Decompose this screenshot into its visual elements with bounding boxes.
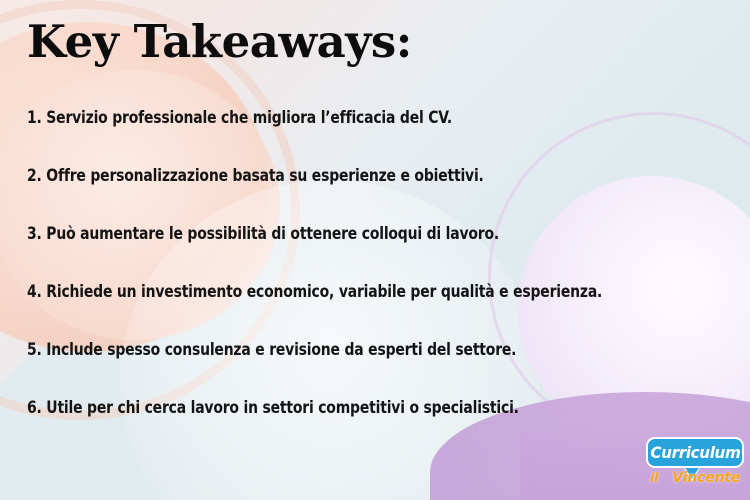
list-item: 5. Include spesso consulenza e revisione… — [27, 342, 688, 400]
logo-subtitle-left: il — [650, 470, 658, 485]
takeaways-slide: Key Takeaways: 1. Servizio professionale… — [0, 0, 750, 500]
list-item: 3. Può aumentare le possibilità di otten… — [27, 226, 688, 284]
list-item: 2. Offre personalizzazione basata su esp… — [27, 168, 688, 226]
speech-bubble-icon: Curriculum — [646, 437, 744, 468]
list-item: 6. Utile per chi cerca lavoro in settori… — [27, 400, 688, 458]
page-title: Key Takeaways: — [27, 18, 412, 65]
logo-bubble-label: Curriculum — [650, 443, 740, 462]
brand-logo[interactable]: Curriculum il Vincente — [646, 437, 746, 493]
logo-subtitle-right: Vincente — [672, 470, 740, 486]
list-item: 1. Servizio professionale che migliora l… — [27, 110, 688, 168]
slide-content: Key Takeaways: 1. Servizio professionale… — [0, 0, 750, 500]
list-item: 4. Richiede un investimento economico, v… — [27, 284, 688, 342]
logo-subtitle: il Vincente — [646, 470, 744, 486]
takeaways-list: 1. Servizio professionale che migliora l… — [27, 110, 730, 458]
